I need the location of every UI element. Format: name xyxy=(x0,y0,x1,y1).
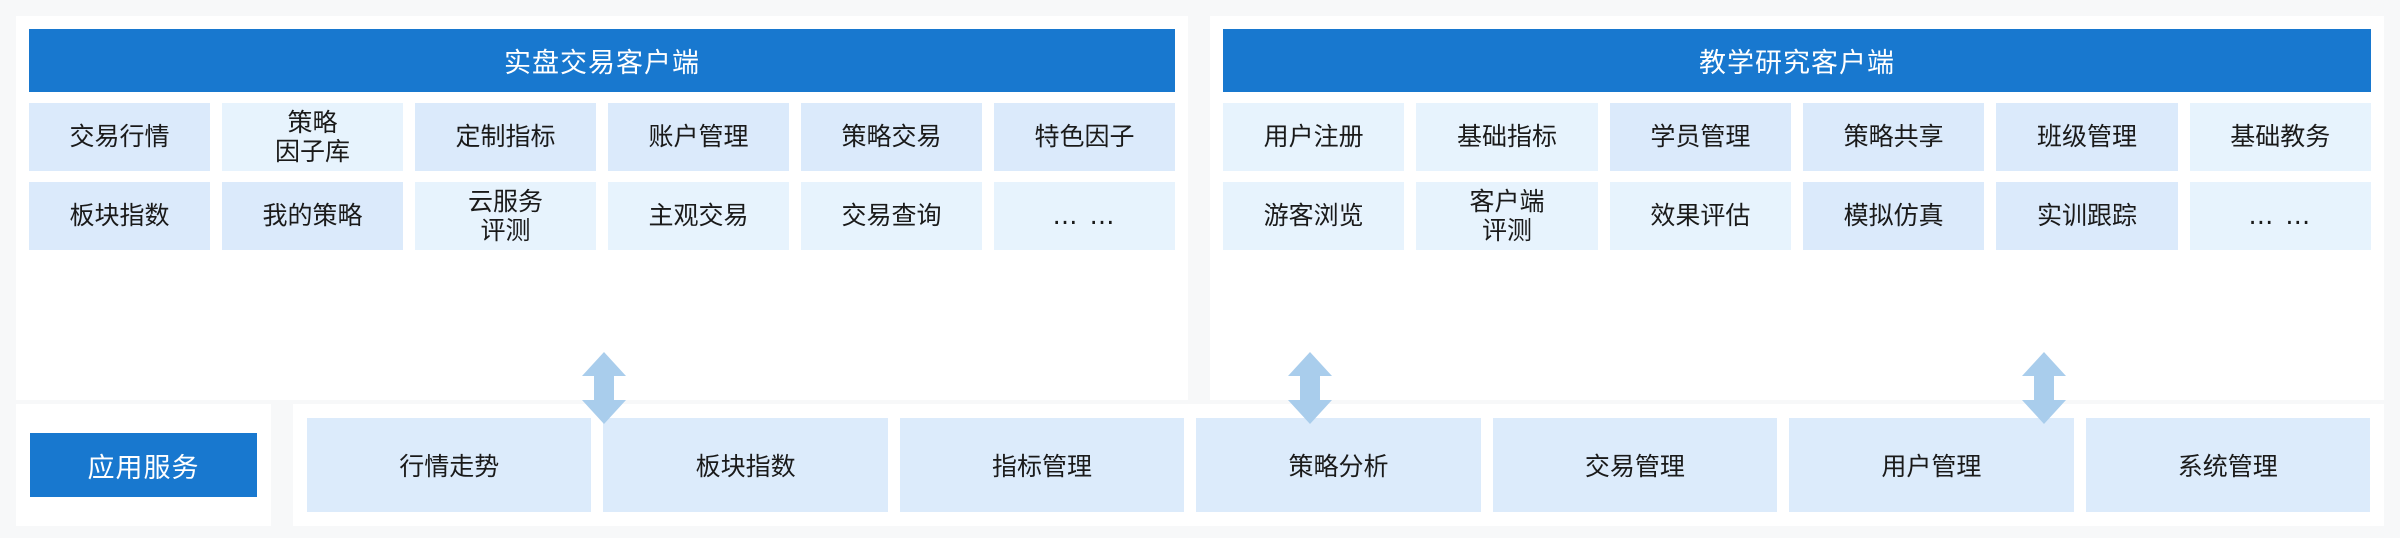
module-tile[interactable]: 客户端 评测 xyxy=(1416,182,1597,250)
module-tile[interactable]: 云服务 评测 xyxy=(415,182,596,250)
client-card-trading: 实盘交易客户端 交易行情 策略 因子库 定制指标 账户管理 策略交易 特色因子 … xyxy=(16,16,1188,400)
module-tile[interactable]: 特色因子 xyxy=(994,103,1175,171)
service-tile[interactable]: 指标管理 xyxy=(900,418,1184,512)
module-tile-more[interactable]: … … xyxy=(994,182,1175,250)
module-tile[interactable]: 用户注册 xyxy=(1223,103,1404,171)
module-tile[interactable]: 交易行情 xyxy=(29,103,210,171)
double-arrow-icon xyxy=(1288,352,1332,424)
module-tile[interactable]: 策略共享 xyxy=(1803,103,1984,171)
module-tile[interactable]: 模拟仿真 xyxy=(1803,182,1984,250)
service-tile[interactable]: 板块指数 xyxy=(603,418,887,512)
service-tile[interactable]: 交易管理 xyxy=(1493,418,1777,512)
module-tile[interactable]: 基础指标 xyxy=(1416,103,1597,171)
double-arrow-icon xyxy=(582,352,626,424)
module-tile[interactable]: 基础教务 xyxy=(2190,103,2371,171)
client-card-teaching: 教学研究客户端 用户注册 基础指标 学员管理 策略共享 班级管理 基础教务 游客… xyxy=(1210,16,2384,400)
module-tile[interactable]: 学员管理 xyxy=(1610,103,1791,171)
module-tile[interactable]: 我的策略 xyxy=(222,182,403,250)
module-tile[interactable]: 策略 因子库 xyxy=(222,103,403,171)
module-tile[interactable]: 实训跟踪 xyxy=(1996,182,2177,250)
module-tile[interactable]: 班级管理 xyxy=(1996,103,2177,171)
module-tile[interactable]: 主观交易 xyxy=(608,182,789,250)
services-label-card: 应用服务 xyxy=(16,404,271,526)
module-tile[interactable]: 板块指数 xyxy=(29,182,210,250)
service-tile[interactable]: 系统管理 xyxy=(2086,418,2370,512)
architecture-diagram: 实盘交易客户端 交易行情 策略 因子库 定制指标 账户管理 策略交易 特色因子 … xyxy=(0,0,2400,538)
module-tile-more[interactable]: … … xyxy=(2190,182,2371,250)
client-card-trading-row-1: 交易行情 策略 因子库 定制指标 账户管理 策略交易 特色因子 xyxy=(29,103,1175,171)
double-arrow-icon xyxy=(2022,352,2066,424)
service-tile[interactable]: 策略分析 xyxy=(1196,418,1480,512)
client-card-teaching-row-2: 游客浏览 客户端 评测 效果评估 模拟仿真 实训跟踪 … … xyxy=(1223,182,2371,250)
service-tile[interactable]: 用户管理 xyxy=(1789,418,2073,512)
clients-row: 实盘交易客户端 交易行情 策略 因子库 定制指标 账户管理 策略交易 特色因子 … xyxy=(0,0,2400,400)
module-tile[interactable]: 策略交易 xyxy=(801,103,982,171)
service-tile[interactable]: 行情走势 xyxy=(307,418,591,512)
client-card-teaching-row-1: 用户注册 基础指标 学员管理 策略共享 班级管理 基础教务 xyxy=(1223,103,2371,171)
module-tile[interactable]: 账户管理 xyxy=(608,103,789,171)
module-tile[interactable]: 定制指标 xyxy=(415,103,596,171)
module-tile[interactable]: 交易查询 xyxy=(801,182,982,250)
client-card-trading-header: 实盘交易客户端 xyxy=(29,29,1175,92)
module-tile[interactable]: 效果评估 xyxy=(1610,182,1791,250)
client-card-trading-row-2: 板块指数 我的策略 云服务 评测 主观交易 交易查询 … … xyxy=(29,182,1175,250)
client-card-teaching-header: 教学研究客户端 xyxy=(1223,29,2371,92)
application-services-badge: 应用服务 xyxy=(30,433,257,497)
module-tile[interactable]: 游客浏览 xyxy=(1223,182,1404,250)
